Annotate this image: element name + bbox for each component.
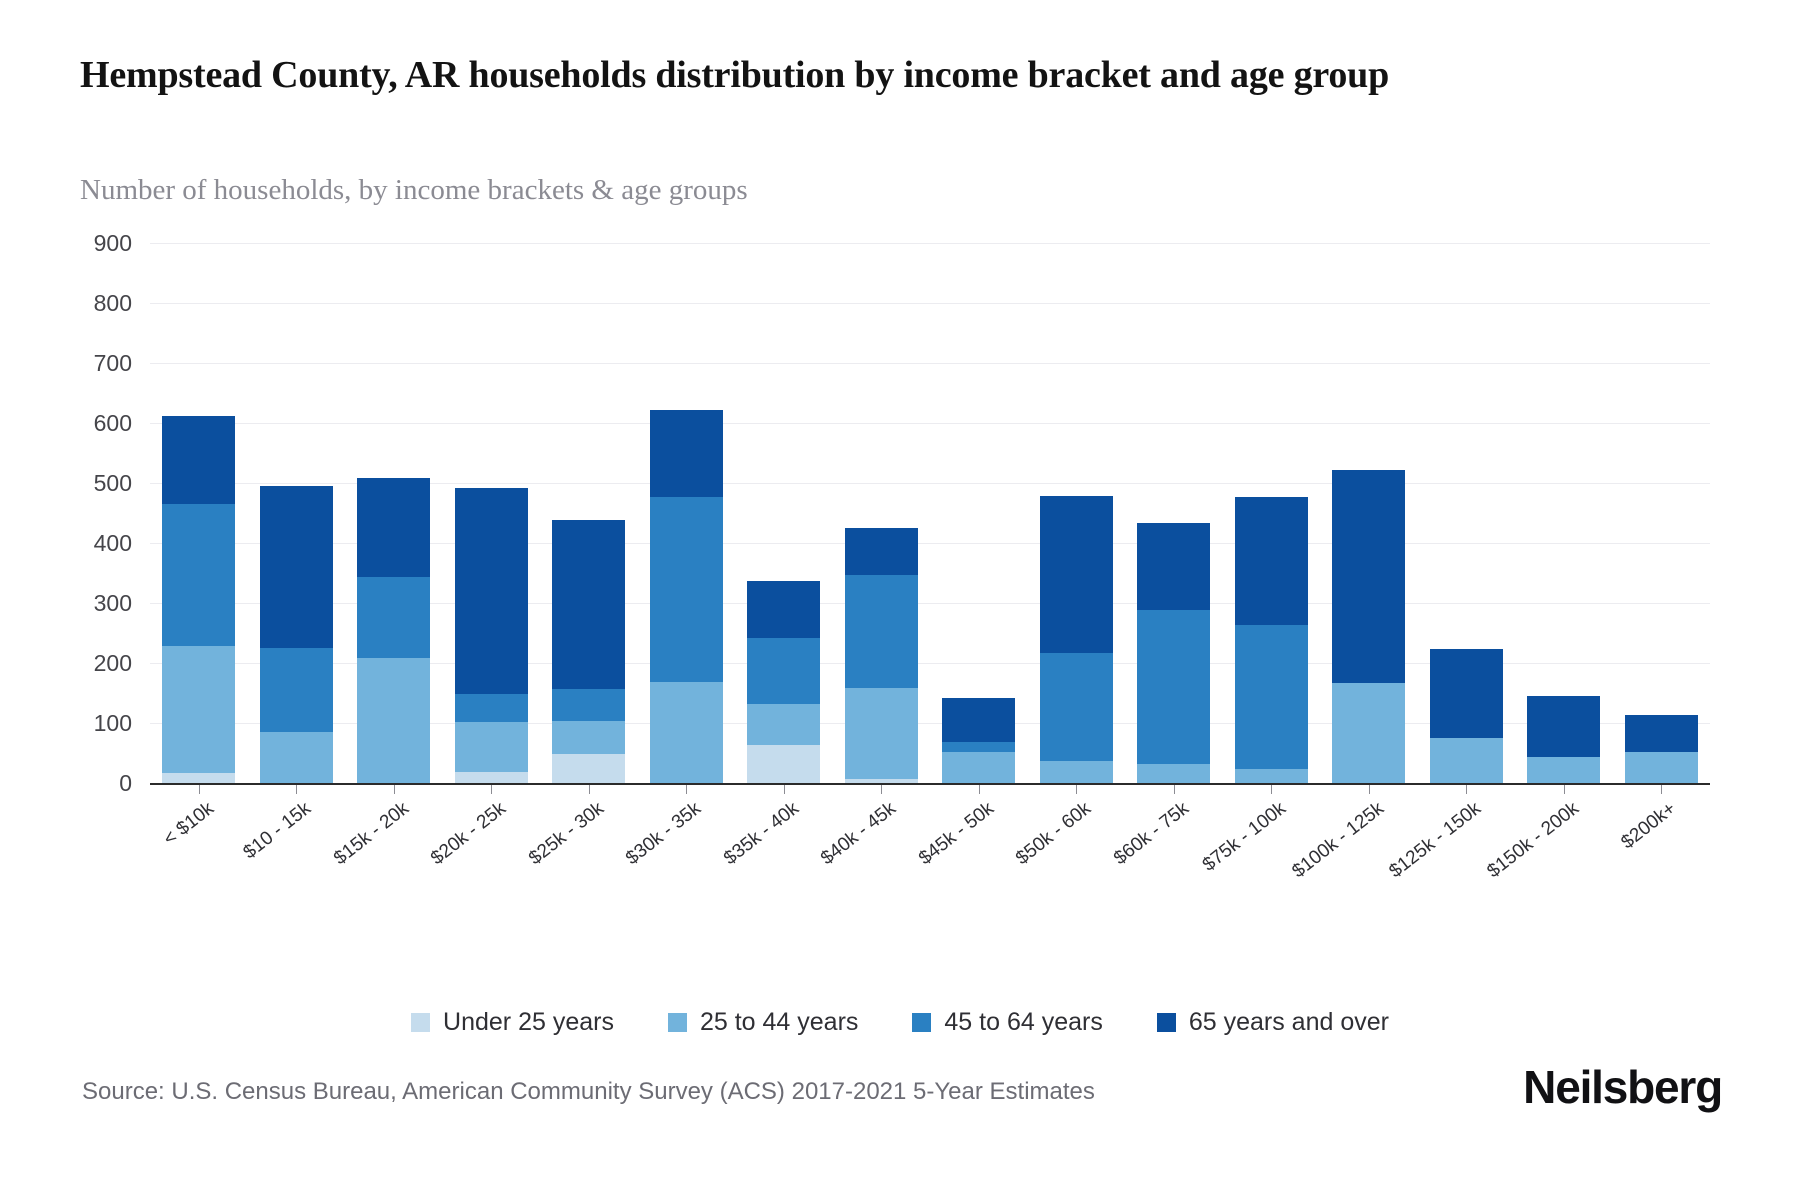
bar-segment[interactable] [1235,769,1308,783]
bar-segment[interactable] [650,410,723,497]
bar-segment[interactable] [260,732,333,783]
bar-stack [552,520,625,783]
x-axis-label-wrap: $200k+ [1618,798,1681,854]
chart-page: Hempstead County, AR households distribu… [0,0,1800,1200]
bar-segment[interactable] [1137,764,1210,783]
bar-stack [1527,696,1600,783]
bar-segment[interactable] [552,520,625,689]
bar-group[interactable] [1625,243,1698,783]
x-axis-label-wrap: < $10k [159,798,218,851]
bar-segment[interactable] [845,528,918,575]
bar-segment[interactable] [357,478,430,577]
x-axis-tick [1076,785,1077,794]
x-axis-tick-label: $15k - 20k [330,798,413,870]
bar-group[interactable] [1332,243,1405,783]
bar-stack [162,416,235,783]
x-axis-label-wrap: $75k - 100k [1199,798,1291,876]
legend-label: Under 25 years [443,1008,614,1037]
legend-label: 25 to 44 years [700,1008,858,1037]
x-axis-label-wrap: $50k - 60k [1012,798,1095,870]
bar-segment[interactable] [455,772,528,783]
x-axis-label-wrap: $25k - 30k [525,798,608,870]
x-axis-tick-label: $30k - 35k [622,798,705,870]
bar-segment[interactable] [357,658,430,783]
y-axis-tick-label: 500 [42,470,132,497]
legend-item[interactable]: 65 years and over [1157,1008,1389,1037]
y-axis-tick-label: 800 [42,290,132,317]
x-axis-tick-label: $40k - 45k [817,798,900,870]
bar-segment[interactable] [162,773,235,783]
bar-group[interactable] [747,243,820,783]
y-axis-tick-label: 400 [42,530,132,557]
bar-stack [845,528,918,783]
bar-group[interactable] [1527,243,1600,783]
chart-legend: Under 25 years25 to 44 years45 to 64 yea… [0,1008,1800,1037]
x-axis-tick [881,785,882,794]
y-axis-tick-label: 600 [42,410,132,437]
bar-group[interactable] [845,243,918,783]
bar-segment[interactable] [455,722,528,772]
x-axis-tick [686,785,687,794]
bar-segment[interactable] [747,745,820,783]
bar-segment[interactable] [747,581,820,638]
bar-segment[interactable] [455,488,528,693]
x-axis-tick-label: < $10k [159,798,218,851]
x-axis-tick-label: $25k - 30k [525,798,608,870]
bar-group[interactable] [455,243,528,783]
bar-group[interactable] [1040,243,1113,783]
bar-segment[interactable] [1040,653,1113,761]
bar-segment[interactable] [1137,610,1210,765]
x-axis-label-wrap: $10 - 15k [240,798,316,864]
bar-segment[interactable] [1625,715,1698,752]
bar-segment[interactable] [942,698,1015,742]
x-axis-tick-label: $45k - 50k [915,798,998,870]
bar-stack [455,488,528,783]
page-subtitle: Number of households, by income brackets… [80,173,1580,208]
legend-item[interactable]: 45 to 64 years [912,1008,1102,1037]
x-axis-tick [1661,785,1662,794]
x-axis-tick [1271,785,1272,794]
y-axis-tick-label: 300 [42,590,132,617]
bar-group[interactable] [650,243,723,783]
source-note: Source: U.S. Census Bureau, American Com… [82,1078,1095,1106]
bar-segment[interactable] [455,694,528,722]
legend-label: 65 years and over [1189,1008,1389,1037]
x-axis-label-wrap: $40k - 45k [817,798,900,870]
x-axis-label-wrap: $30k - 35k [622,798,705,870]
bar-group[interactable] [1430,243,1503,783]
bar-stack [1040,496,1113,783]
x-axis-tick [979,785,980,794]
bar-segment[interactable] [942,752,1015,783]
x-axis-label-wrap: $20k - 25k [427,798,510,870]
page-title: Hempstead County, AR households distribu… [80,52,1720,100]
legend-label: 45 to 64 years [944,1008,1102,1037]
bar-segment[interactable] [1527,696,1600,757]
bar-stack [747,581,820,783]
y-axis-tick-label: 900 [42,230,132,257]
x-axis-label-wrap: $60k - 75k [1110,798,1193,870]
bar-segment[interactable] [1527,757,1600,783]
x-axis-tick-label: $75k - 100k [1199,798,1291,876]
bar-stack [1332,470,1405,783]
bar-segment[interactable] [1430,738,1503,783]
x-axis-tick-label: $20k - 25k [427,798,510,870]
bar-segment[interactable] [1040,496,1113,654]
brand-logo: Neilsberg [1523,1060,1722,1114]
bar-segment[interactable] [1430,649,1503,738]
x-axis-label-wrap: $150k - 200k [1483,798,1583,883]
bar-segment[interactable] [1040,761,1113,783]
x-axis-tick-label: $125k - 150k [1386,798,1486,883]
bar-segment[interactable] [1332,470,1405,683]
x-axis-label-wrap: $35k - 40k [720,798,803,870]
bar-segment[interactable] [552,689,625,721]
x-axis-label-wrap: $100k - 125k [1288,798,1388,883]
x-axis-tick-label: $35k - 40k [720,798,803,870]
x-axis-tick-label: $60k - 75k [1110,798,1193,870]
bar-segment[interactable] [845,688,918,779]
bar-stack [942,698,1015,783]
bar-stack [650,410,723,783]
x-axis-tick [1564,785,1565,794]
bar-segment[interactable] [747,704,820,745]
legend-item[interactable]: 25 to 44 years [668,1008,858,1037]
x-axis-tick [296,785,297,794]
legend-swatch-icon [912,1013,931,1032]
x-axis-label-wrap: $15k - 20k [330,798,413,870]
y-axis-tick-label: 200 [42,650,132,677]
x-axis-tick [784,785,785,794]
bar-segment[interactable] [162,646,235,774]
x-axis-line [150,783,1710,785]
bar-segment[interactable] [162,416,235,504]
bar-segment[interactable] [260,648,333,732]
x-axis-tick-label: $10 - 15k [240,798,316,864]
bar-group[interactable] [1235,243,1308,783]
y-axis-tick-label: 100 [42,710,132,737]
legend-swatch-icon [668,1013,687,1032]
legend-item[interactable]: Under 25 years [411,1008,614,1037]
x-axis-label-wrap: $45k - 50k [915,798,998,870]
x-axis-tick [491,785,492,794]
bar-segment[interactable] [1235,497,1308,625]
legend-swatch-icon [1157,1013,1176,1032]
bar-segment[interactable] [1137,523,1210,610]
bar-stack [357,478,430,783]
bar-stack [260,486,333,783]
bar-segment[interactable] [1625,752,1698,783]
x-axis-tick [394,785,395,794]
bar-stack [1430,649,1503,783]
bar-segment[interactable] [650,497,723,682]
x-axis-tick-label: $50k - 60k [1012,798,1095,870]
bar-group[interactable] [1137,243,1210,783]
bar-segment[interactable] [650,682,723,783]
bar-group[interactable] [162,243,235,783]
bar-segment[interactable] [1235,625,1308,769]
bars-layer [150,243,1710,783]
bar-group[interactable] [552,243,625,783]
bar-segment[interactable] [1332,683,1405,783]
bar-segment[interactable] [260,486,333,648]
legend-swatch-icon [411,1013,430,1032]
x-axis-tick [1466,785,1467,794]
y-axis-tick-label: 700 [42,350,132,377]
bar-segment[interactable] [552,754,625,783]
x-axis-tick-label: $200k+ [1618,798,1681,854]
x-axis-tick [1369,785,1370,794]
bar-stack [1625,715,1698,783]
bar-group[interactable] [357,243,430,783]
x-axis-tick [199,785,200,794]
bar-segment[interactable] [552,721,625,754]
x-axis-label-wrap: $125k - 150k [1386,798,1486,883]
bar-stack [1137,523,1210,783]
bar-group[interactable] [942,243,1015,783]
bar-segment[interactable] [747,638,820,704]
bar-segment[interactable] [162,504,235,646]
bar-segment[interactable] [942,742,1015,753]
bar-group[interactable] [260,243,333,783]
x-axis-tick-label: $150k - 200k [1483,798,1583,883]
y-axis-tick-label: 0 [42,770,132,797]
x-axis-tick [589,785,590,794]
bar-segment[interactable] [845,575,918,688]
x-axis-tick-label: $100k - 125k [1288,798,1388,883]
bar-segment[interactable] [357,577,430,657]
x-axis-tick [1174,785,1175,794]
bar-stack [1235,497,1308,783]
